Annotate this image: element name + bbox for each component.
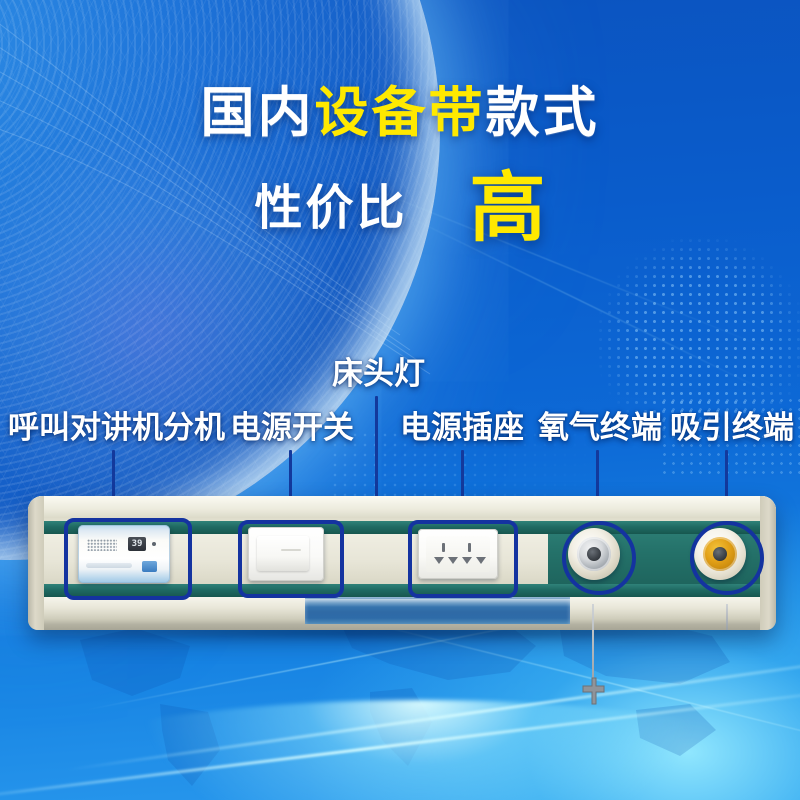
callout-label-oxygen-terminal: 氧气终端 (538, 412, 662, 444)
headline-subtext: 性价比 (254, 180, 407, 236)
headline-line1-highlight: 设备带 (315, 81, 486, 144)
callout-label-suction-terminal: 吸引终端 (670, 412, 794, 444)
highlight-box-power-switch (238, 520, 344, 598)
panel-end-cap-left (28, 496, 44, 630)
highlight-box-power-socket (408, 520, 518, 598)
bedside-lamp-gloss (305, 599, 570, 607)
highlight-circle-suction-terminal (690, 521, 764, 595)
highlight-box-nurse-call-intercom (64, 518, 192, 600)
highlight-circle-oxygen-terminal (562, 521, 636, 595)
headline-line1-part2: 款式 (486, 81, 600, 144)
poster-canvas: 国内设备带款式 性价比高 呼叫对讲机分机 电源开关 床头灯 电源插座 氧气终端 … (0, 0, 800, 800)
headline-emphasis: 高 (470, 163, 546, 252)
callout-label-power-socket: 电源插座 (400, 412, 524, 444)
headline-line-2: 性价比高 (0, 170, 800, 246)
pull-cord-weight-icon (579, 676, 607, 706)
pull-cord[interactable] (592, 604, 594, 686)
headline-line1-part1: 国内 (201, 81, 315, 144)
panel-top-cap (28, 496, 776, 518)
callout-label-bedside-lamp: 床头灯 (332, 358, 425, 390)
callout-label-power-switch: 电源开关 (230, 412, 354, 444)
headline-line-1: 国内设备带款式 (0, 86, 800, 140)
callout-label-nurse-call-intercom: 呼叫对讲机分机 (8, 412, 225, 444)
pull-cord-secondary[interactable] (726, 604, 728, 630)
